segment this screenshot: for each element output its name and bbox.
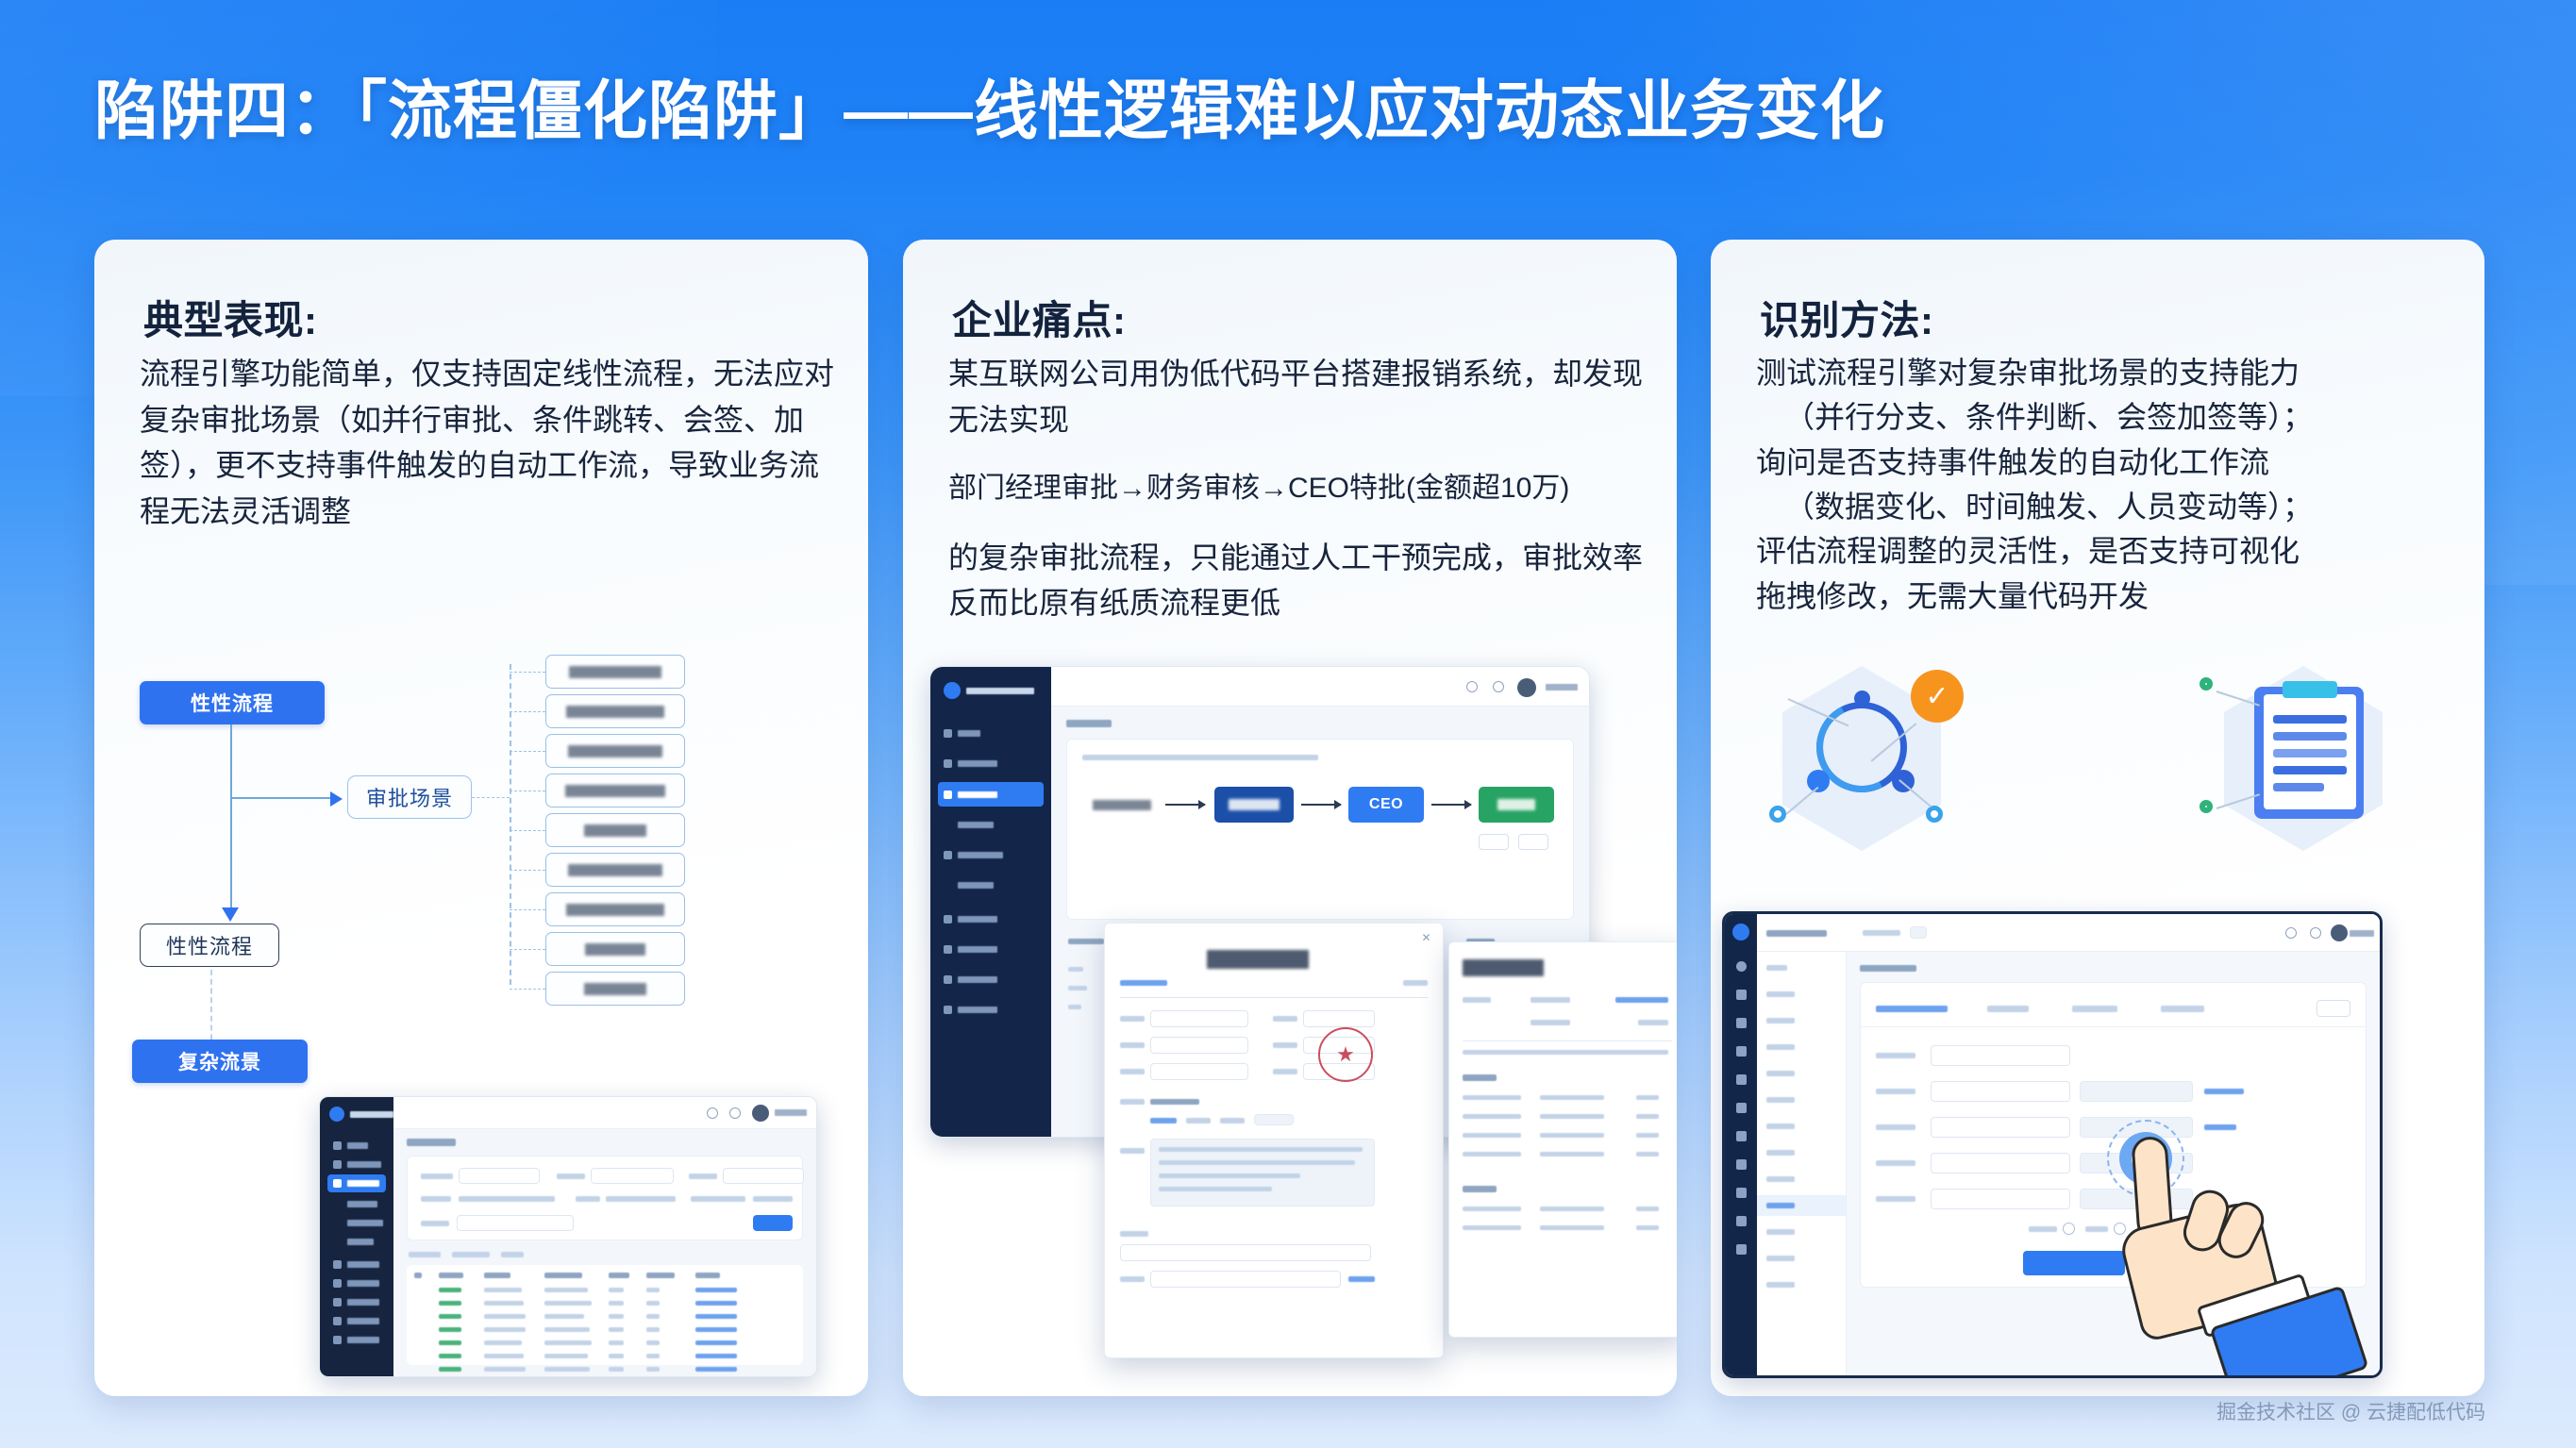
filter-value xyxy=(753,1196,793,1202)
table-row xyxy=(646,1327,660,1332)
bell-icon[interactable] xyxy=(707,1107,718,1119)
help-icon[interactable] xyxy=(1493,681,1504,692)
clipboard-clip xyxy=(2283,681,2337,698)
filter-input[interactable] xyxy=(457,1215,574,1231)
table-row xyxy=(609,1354,624,1358)
invoice-field-label xyxy=(1120,1276,1145,1282)
mock-sidebar-item[interactable] xyxy=(327,1195,386,1213)
document-row xyxy=(1463,1133,1521,1138)
diagram-leaf-label xyxy=(584,983,646,995)
table-row-action[interactable] xyxy=(695,1327,737,1332)
nav-item[interactable] xyxy=(1766,1176,1795,1182)
mock-dashboard-form-builder xyxy=(1722,911,2383,1378)
table-row xyxy=(439,1327,461,1332)
card-heading-identify-method: 识别方法: xyxy=(1760,289,1934,346)
table-row xyxy=(1068,986,1087,990)
card-typical-symptoms: 典型表现: 流程引擎功能简单，仅支持固定线性流程，无法应对复杂审批场景（如并行审… xyxy=(94,240,868,1396)
nav-item[interactable] xyxy=(1766,1044,1795,1050)
invoice-field-label xyxy=(1120,1231,1148,1237)
table-row xyxy=(439,1301,461,1306)
document-row xyxy=(1463,1095,1521,1100)
sidebar-item-label xyxy=(958,791,997,798)
invoice-field[interactable] xyxy=(1303,1010,1375,1027)
mock-sidebar-item[interactable] xyxy=(938,844,1044,865)
card-identify-method: 识别方法: 测试流程引擎对复杂审批场景的支持能力 （并行分支、条件判断、会签加签… xyxy=(1711,240,2484,1396)
sidebar-item-label xyxy=(958,946,997,953)
filter-label xyxy=(421,1221,449,1226)
settings-icon xyxy=(944,975,952,984)
diagram-leaf-label xyxy=(584,824,646,837)
seal-star-icon: ★ xyxy=(1336,1044,1355,1065)
table-header-cell xyxy=(484,1273,510,1278)
filter-value xyxy=(606,1196,676,1202)
document-row xyxy=(1636,1114,1659,1119)
nav-item[interactable] xyxy=(1766,1229,1795,1235)
rail-icon xyxy=(1736,990,1747,1000)
mock-invoice-dialog: ✕ ★ xyxy=(1104,923,1444,1358)
table-row xyxy=(646,1354,660,1358)
official-seal-icon: ★ xyxy=(1318,1027,1373,1082)
diagram-leaf-item xyxy=(545,694,685,728)
table-row xyxy=(544,1301,592,1306)
flow-arrow xyxy=(1301,804,1341,806)
nav-item[interactable] xyxy=(1766,1097,1795,1103)
diagram-node-complex-scenario: 复杂流景 xyxy=(132,1040,308,1083)
bell-icon[interactable] xyxy=(2285,927,2297,939)
user-name xyxy=(2350,930,2374,937)
invoice-field-label xyxy=(1273,1016,1297,1022)
filter-label xyxy=(576,1196,600,1202)
clipboard-line xyxy=(2273,715,2347,724)
mock-sidebar-item-active[interactable] xyxy=(327,1174,386,1192)
invoice-value xyxy=(1150,1099,1199,1105)
identify-line: 测试流程引擎对复杂审批场景的支持能力 xyxy=(1756,356,2300,390)
flow-node-department-manager[interactable] xyxy=(1084,789,1160,821)
filter-label xyxy=(691,1196,745,1202)
filter-value xyxy=(459,1196,555,1202)
mock-sidebar-item-active[interactable] xyxy=(938,782,1044,807)
mock-topbar xyxy=(1757,914,2380,952)
sidebar-item-label xyxy=(958,1007,997,1013)
table-row-action[interactable] xyxy=(695,1301,737,1306)
mock-main-area xyxy=(393,1097,816,1376)
mock-sidebar-item[interactable] xyxy=(327,1233,386,1251)
sidebar-item-icon xyxy=(333,1317,342,1325)
table-row xyxy=(646,1314,660,1319)
node-dot-bottom-right xyxy=(1926,806,1943,823)
filter-label xyxy=(689,1173,717,1179)
diagram-leaf-item xyxy=(545,932,685,966)
table-row-action[interactable] xyxy=(695,1367,737,1372)
user-name xyxy=(1546,684,1578,691)
form-link[interactable] xyxy=(2204,1124,2236,1130)
diagram-leaf-connector xyxy=(510,830,545,831)
network-node-hexagon-icon: ✓ xyxy=(1748,666,1975,855)
invoice-field-label xyxy=(1120,1016,1145,1022)
diagram-arrowhead-mid xyxy=(330,791,343,807)
filter-label xyxy=(557,1173,585,1179)
invoice-field-label xyxy=(1273,1042,1297,1048)
table-row xyxy=(1068,967,1083,972)
app-title xyxy=(1766,930,1827,937)
document-body-line xyxy=(1463,1050,1668,1055)
tab-item[interactable] xyxy=(1987,1006,2029,1012)
mock-page-title xyxy=(1066,720,1112,727)
remark-line xyxy=(1159,1147,1363,1152)
logo-text xyxy=(966,688,1034,694)
mock-sidebar-item[interactable] xyxy=(327,1256,386,1273)
table-row-action[interactable] xyxy=(695,1288,737,1292)
table-row xyxy=(439,1288,461,1292)
document-row xyxy=(1636,1152,1659,1157)
sidebar-item-icon xyxy=(333,1179,342,1188)
diagram-leaf-item xyxy=(545,972,685,1006)
bell-icon[interactable] xyxy=(1466,681,1478,692)
diagram-leaf-spine xyxy=(510,664,511,985)
panel-description xyxy=(1082,755,1318,760)
table-row xyxy=(439,1314,461,1319)
mock-sidebar-item[interactable] xyxy=(938,752,1044,774)
diagram-connector-vertical xyxy=(230,724,232,913)
table-row-action[interactable] xyxy=(695,1314,737,1319)
invoice-remark-box xyxy=(1150,1139,1375,1207)
logo-mark-icon xyxy=(1732,924,1749,940)
table-row xyxy=(609,1301,624,1306)
table-row xyxy=(609,1340,624,1345)
table-header-cell xyxy=(544,1273,582,1278)
tab-divider xyxy=(1861,1026,2366,1027)
invoice-field[interactable] xyxy=(1150,1271,1341,1288)
nav-item[interactable] xyxy=(1766,1256,1795,1261)
mock-sidebar-item[interactable] xyxy=(327,1293,386,1311)
table-row xyxy=(646,1301,660,1306)
sidebar-item-label xyxy=(347,1299,379,1306)
document-row xyxy=(1540,1152,1604,1157)
nav-item-active[interactable] xyxy=(1757,1195,1846,1216)
rail-icon xyxy=(1736,1103,1747,1113)
mock-table xyxy=(407,1265,803,1365)
mock-sidebar-item[interactable] xyxy=(938,999,1044,1020)
tab-item[interactable] xyxy=(2072,1006,2117,1012)
diagram-leaf-item xyxy=(545,892,685,926)
nav-item[interactable] xyxy=(1766,1123,1795,1129)
sidebar-item-label xyxy=(958,730,980,737)
remark-line xyxy=(1159,1187,1272,1191)
nav-item[interactable] xyxy=(1766,965,1787,971)
node-dot-top xyxy=(1854,691,1870,707)
card-heading-enterprise-pain: 企业痛点: xyxy=(952,289,1127,346)
pointing-hand-cursor xyxy=(2100,1137,2383,1378)
table-header-cell xyxy=(695,1273,720,1278)
sidebar-item-icon xyxy=(333,1279,342,1288)
clipboard-hexagon-icon xyxy=(2181,666,2417,855)
sidebar-item-label xyxy=(958,760,997,767)
diagram-leaf-connector xyxy=(510,711,545,712)
mock-sidebar-item[interactable] xyxy=(938,874,1044,895)
check-badge-icon: ✓ xyxy=(1911,670,1964,723)
mock-sidebar-item[interactable] xyxy=(938,722,1044,744)
invoice-field[interactable] xyxy=(1150,1010,1248,1027)
diagram-node-label: 性性流程 xyxy=(191,689,274,717)
nav-item[interactable] xyxy=(1766,1150,1795,1156)
mock-topbar xyxy=(393,1097,816,1129)
watermark: 掘金技术社区 @ 云捷配低代码 xyxy=(2216,1397,2485,1425)
document-row xyxy=(1636,1133,1659,1138)
invoice-field-label xyxy=(1120,1148,1145,1154)
card-enterprise-pain: 企业痛点: 某互联网公司用伪低代码平台搭建报销系统，却发现无法实现 部门经理审批… xyxy=(903,240,1677,1396)
table-header-cell xyxy=(646,1273,675,1278)
flow-publish-button[interactable] xyxy=(1518,834,1548,850)
user-name xyxy=(775,1109,807,1116)
form-select[interactable] xyxy=(1931,1189,2070,1209)
table-row xyxy=(544,1314,584,1319)
diagram-leaf-item xyxy=(545,813,685,847)
form-label xyxy=(1876,1160,1915,1166)
diagram-leaf-connector xyxy=(510,949,545,950)
flow-arrow xyxy=(1165,804,1205,806)
identify-line: （数据变化、时间触发、人员变动等）； xyxy=(1784,490,2313,524)
form-label xyxy=(1876,1053,1915,1058)
nav-item[interactable] xyxy=(1766,1018,1795,1024)
rail-icon xyxy=(1736,1188,1747,1198)
mock-sidebar-item[interactable] xyxy=(938,814,1044,835)
filter-input[interactable] xyxy=(723,1168,804,1184)
mock-sidebar-item[interactable] xyxy=(327,1312,386,1330)
sidebar-item-label xyxy=(347,1201,377,1207)
mock-sidebar-item[interactable] xyxy=(327,1274,386,1292)
flow-node-label xyxy=(1093,800,1151,810)
diagram-leaf-label xyxy=(566,904,664,916)
diagram-leaf-label xyxy=(585,943,645,956)
clipboard-line xyxy=(2273,749,2347,757)
mock-sidebar-item[interactable] xyxy=(327,1156,386,1173)
table-row xyxy=(646,1367,660,1372)
table-row xyxy=(609,1314,624,1319)
logo-mark-icon xyxy=(944,682,961,699)
nav-item[interactable] xyxy=(1766,991,1795,997)
form-select[interactable] xyxy=(1931,1081,2070,1102)
mock-sidebar-item[interactable] xyxy=(327,1214,386,1232)
sidebar-item-icon xyxy=(333,1160,342,1169)
mock-sidebar-item[interactable] xyxy=(327,1137,386,1155)
diagram-leaf-connector xyxy=(510,672,545,673)
flow-node-special-approval[interactable] xyxy=(1479,787,1554,823)
mock-secondary-nav xyxy=(1757,952,1847,1375)
form-select[interactable] xyxy=(1931,1045,2070,1066)
clipboard-line xyxy=(2273,783,2324,791)
invoice-field[interactable] xyxy=(1150,1063,1248,1080)
invoice-tag-box xyxy=(1254,1114,1294,1125)
invoice-field[interactable] xyxy=(1120,1244,1371,1261)
filter-label xyxy=(421,1173,453,1179)
mock-sidebar xyxy=(320,1097,393,1376)
mock-page-title xyxy=(407,1139,456,1146)
form-select[interactable] xyxy=(1931,1117,2070,1138)
diagram-connector-to-mid xyxy=(230,797,336,799)
form-label xyxy=(1876,1124,1915,1130)
document-meta-link[interactable] xyxy=(1615,997,1668,1003)
table-row xyxy=(544,1327,590,1332)
filter-label xyxy=(421,1196,451,1202)
breadcrumb-chip xyxy=(1910,926,1927,939)
diagram-leaf-item xyxy=(545,853,685,887)
invoice-field[interactable] xyxy=(1150,1037,1248,1054)
rail-icon xyxy=(1736,1018,1747,1028)
flow-save-button[interactable] xyxy=(1479,834,1509,850)
approval-flow-text: 部门经理审批→财务审核→CEO特批(金额超10万) xyxy=(948,467,1647,510)
document-row xyxy=(1636,1225,1659,1230)
flow-node-ceo[interactable]: CEO xyxy=(1348,787,1424,823)
search-button[interactable] xyxy=(753,1215,793,1231)
sidebar-item-icon xyxy=(333,1260,342,1269)
table-header-cell xyxy=(609,1273,629,1278)
sidebar-item-label xyxy=(347,1220,383,1226)
avatar[interactable] xyxy=(1517,678,1536,697)
sidebar-item-label xyxy=(958,916,997,923)
toggle-label xyxy=(2029,1226,2057,1232)
table-row-action[interactable] xyxy=(695,1354,737,1358)
sidebar-item-label xyxy=(347,1318,379,1324)
home-icon xyxy=(944,729,952,738)
table-row xyxy=(484,1354,524,1358)
rail-icon xyxy=(1736,1074,1747,1085)
rail-icon xyxy=(1736,1131,1747,1141)
rail-icon xyxy=(1736,1244,1747,1255)
mock-filter-panel xyxy=(407,1156,803,1240)
table-row xyxy=(646,1340,660,1345)
diagram-node-approval-scenario: 审批场景 xyxy=(347,775,472,819)
table-row xyxy=(609,1288,624,1292)
avatar[interactable] xyxy=(752,1105,769,1122)
table-row xyxy=(439,1367,461,1372)
document-title xyxy=(1463,959,1544,976)
rail-icon xyxy=(1736,1159,1747,1170)
help-icon[interactable] xyxy=(2310,927,2321,939)
nav-item[interactable] xyxy=(1766,1071,1795,1076)
invoice-action-link[interactable] xyxy=(1348,1276,1375,1282)
invoice-divider xyxy=(1120,997,1428,998)
document-meta xyxy=(1638,1020,1668,1025)
diagram-leaf-item xyxy=(545,734,685,768)
document-row xyxy=(1463,1152,1521,1157)
document-section-title xyxy=(1463,1074,1497,1081)
table-row xyxy=(609,1367,624,1372)
flow-icon xyxy=(944,791,952,799)
filter-input[interactable] xyxy=(591,1168,674,1184)
sidebar-item-label xyxy=(347,1261,379,1268)
table-row xyxy=(609,1327,624,1332)
document-row xyxy=(1540,1114,1604,1119)
flow-node-finance-review[interactable] xyxy=(1214,787,1294,823)
document-row xyxy=(1463,1114,1521,1119)
table-row xyxy=(544,1367,590,1372)
breadcrumb xyxy=(1863,930,1900,936)
document-row xyxy=(1636,1095,1659,1100)
document-meta xyxy=(1531,1020,1570,1025)
mock-dashboard-process-list xyxy=(319,1096,817,1377)
tab-item[interactable] xyxy=(409,1252,441,1257)
help-icon[interactable] xyxy=(729,1107,741,1119)
flow-node-label xyxy=(1497,799,1535,810)
invoice-field-label xyxy=(1120,1099,1145,1105)
diagram-connector-mid-to-spine xyxy=(472,797,510,798)
diagram-leaf-label xyxy=(565,785,665,797)
invoice-meta xyxy=(1403,980,1428,986)
node-dot-top-left xyxy=(2200,677,2213,691)
mock-page-title xyxy=(1860,965,1916,972)
document-row xyxy=(1540,1207,1604,1211)
nav-item[interactable] xyxy=(1766,1282,1795,1288)
clipboard-line xyxy=(2273,766,2347,774)
sidebar-item-label xyxy=(347,1337,379,1343)
mock-sidebar-item[interactable] xyxy=(327,1331,386,1349)
toggle-switch[interactable] xyxy=(2063,1223,2075,1235)
mock-sidebar-item[interactable] xyxy=(938,908,1044,929)
card-body-enterprise-pain: 某互联网公司用伪低代码平台搭建报销系统，却发现无法实现 部门经理审批→财务审核→… xyxy=(948,351,1647,626)
node-dot-bottom-left xyxy=(1769,806,1786,823)
mock-logo xyxy=(329,1107,393,1122)
node-dot-bottom-left xyxy=(2200,800,2213,813)
tab-item[interactable] xyxy=(501,1252,524,1257)
diagram-node-linear-process-bottom: 性性流程 xyxy=(140,924,279,967)
invoice-code-link[interactable] xyxy=(1120,980,1167,986)
avatar[interactable] xyxy=(2331,924,2348,941)
flow-arrow xyxy=(1431,804,1471,806)
document-row xyxy=(1540,1225,1604,1230)
tab-item-active[interactable] xyxy=(1876,1006,1948,1012)
mock-sidebar-item[interactable] xyxy=(938,969,1044,990)
table-row-action[interactable] xyxy=(695,1340,737,1345)
diagram-leaf-connector xyxy=(510,909,545,910)
diagram-leaf-label xyxy=(568,864,662,876)
diagram-node-label: 审批场景 xyxy=(366,782,453,812)
filter-input[interactable] xyxy=(459,1168,540,1184)
diagram-node-label: 性性流程 xyxy=(166,930,253,960)
mock-document-pane xyxy=(1448,941,1677,1338)
form-select[interactable] xyxy=(1931,1153,2070,1173)
mock-topbar xyxy=(1051,667,1589,707)
sync-icon xyxy=(944,915,952,924)
flow-designer-panel: CEO xyxy=(1066,739,1574,920)
diagram-leaf-connector xyxy=(510,989,545,990)
diagram-node-linear-process-top: 性性流程 xyxy=(140,681,325,724)
document-row xyxy=(1540,1095,1604,1100)
doc-icon xyxy=(944,851,952,859)
identify-line: 拖拽修改，无需大量代码开发 xyxy=(1756,579,2149,613)
diagram-leaf-label xyxy=(566,706,664,718)
nav-item-label xyxy=(1766,1203,1795,1208)
form-link[interactable] xyxy=(2204,1089,2244,1094)
document-meta xyxy=(1531,997,1570,1003)
table-row xyxy=(439,1354,461,1358)
tab-item[interactable] xyxy=(452,1252,490,1257)
remark-line xyxy=(1159,1173,1300,1178)
sidebar-item-label xyxy=(958,882,994,889)
table-row xyxy=(484,1327,526,1332)
close-icon[interactable]: ✕ xyxy=(1421,933,1431,943)
sidebar-item-label xyxy=(347,1142,368,1149)
tab-item[interactable] xyxy=(2161,1006,2204,1012)
document-row xyxy=(1463,1207,1521,1211)
diagram-leaf-item xyxy=(545,774,685,807)
table-header-cell xyxy=(439,1273,463,1278)
sidebar-item-label xyxy=(958,822,994,828)
edit-button[interactable] xyxy=(2317,1000,2350,1017)
table-row xyxy=(484,1340,522,1345)
diagram-leaf-item xyxy=(545,655,685,689)
invoice-field-label xyxy=(1273,1069,1297,1074)
mock-sidebar-item[interactable] xyxy=(938,939,1044,959)
